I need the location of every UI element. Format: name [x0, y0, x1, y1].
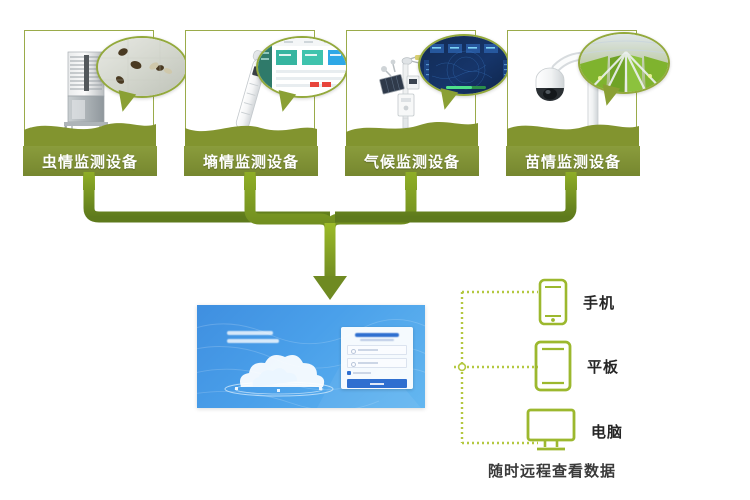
client-row-phone[interactable]: 手机	[537, 278, 615, 326]
remember-me-checkbox[interactable]	[347, 371, 407, 375]
login-submit-button[interactable]	[347, 379, 407, 388]
insect-photo	[98, 38, 186, 96]
smartphone-icon	[537, 278, 569, 326]
client-row-computer[interactable]: 电脑	[525, 408, 623, 454]
password-field[interactable]	[347, 358, 407, 368]
diagram-canvas: 虫情监测设备	[0, 0, 750, 500]
insect-detail-bubble[interactable]	[96, 36, 188, 98]
client-label-phone: 手机	[583, 292, 615, 313]
cloud-platform-screenshot[interactable]	[197, 305, 425, 408]
client-label-tablet: 平板	[587, 356, 619, 377]
weather-dashboard-photo	[420, 36, 508, 94]
grass-decoration	[346, 114, 478, 148]
client-row-tablet[interactable]: 平板	[533, 340, 619, 392]
client-label-computer: 电脑	[591, 421, 623, 442]
tablet-icon	[533, 340, 573, 392]
grass-decoration	[24, 114, 156, 148]
weather-dashboard-bubble[interactable]	[418, 34, 510, 96]
login-panel[interactable]	[341, 327, 413, 389]
desktop-monitor-icon	[525, 408, 577, 454]
login-subtitle	[360, 339, 394, 341]
greenhouse-photo	[580, 34, 668, 92]
greenhouse-view-bubble[interactable]	[578, 32, 670, 94]
platform-hero-text	[227, 331, 279, 343]
grass-decoration	[507, 114, 639, 148]
soil-data-bubble[interactable]	[256, 36, 348, 98]
remote-access-caption: 随时远程查看数据	[488, 460, 616, 481]
device-to-platform-connector	[0, 168, 750, 308]
grass-decoration	[185, 114, 317, 148]
cloud-illustration	[219, 349, 339, 397]
soil-dashboard-photo	[258, 38, 346, 96]
login-title	[355, 333, 399, 337]
username-field[interactable]	[347, 345, 407, 355]
